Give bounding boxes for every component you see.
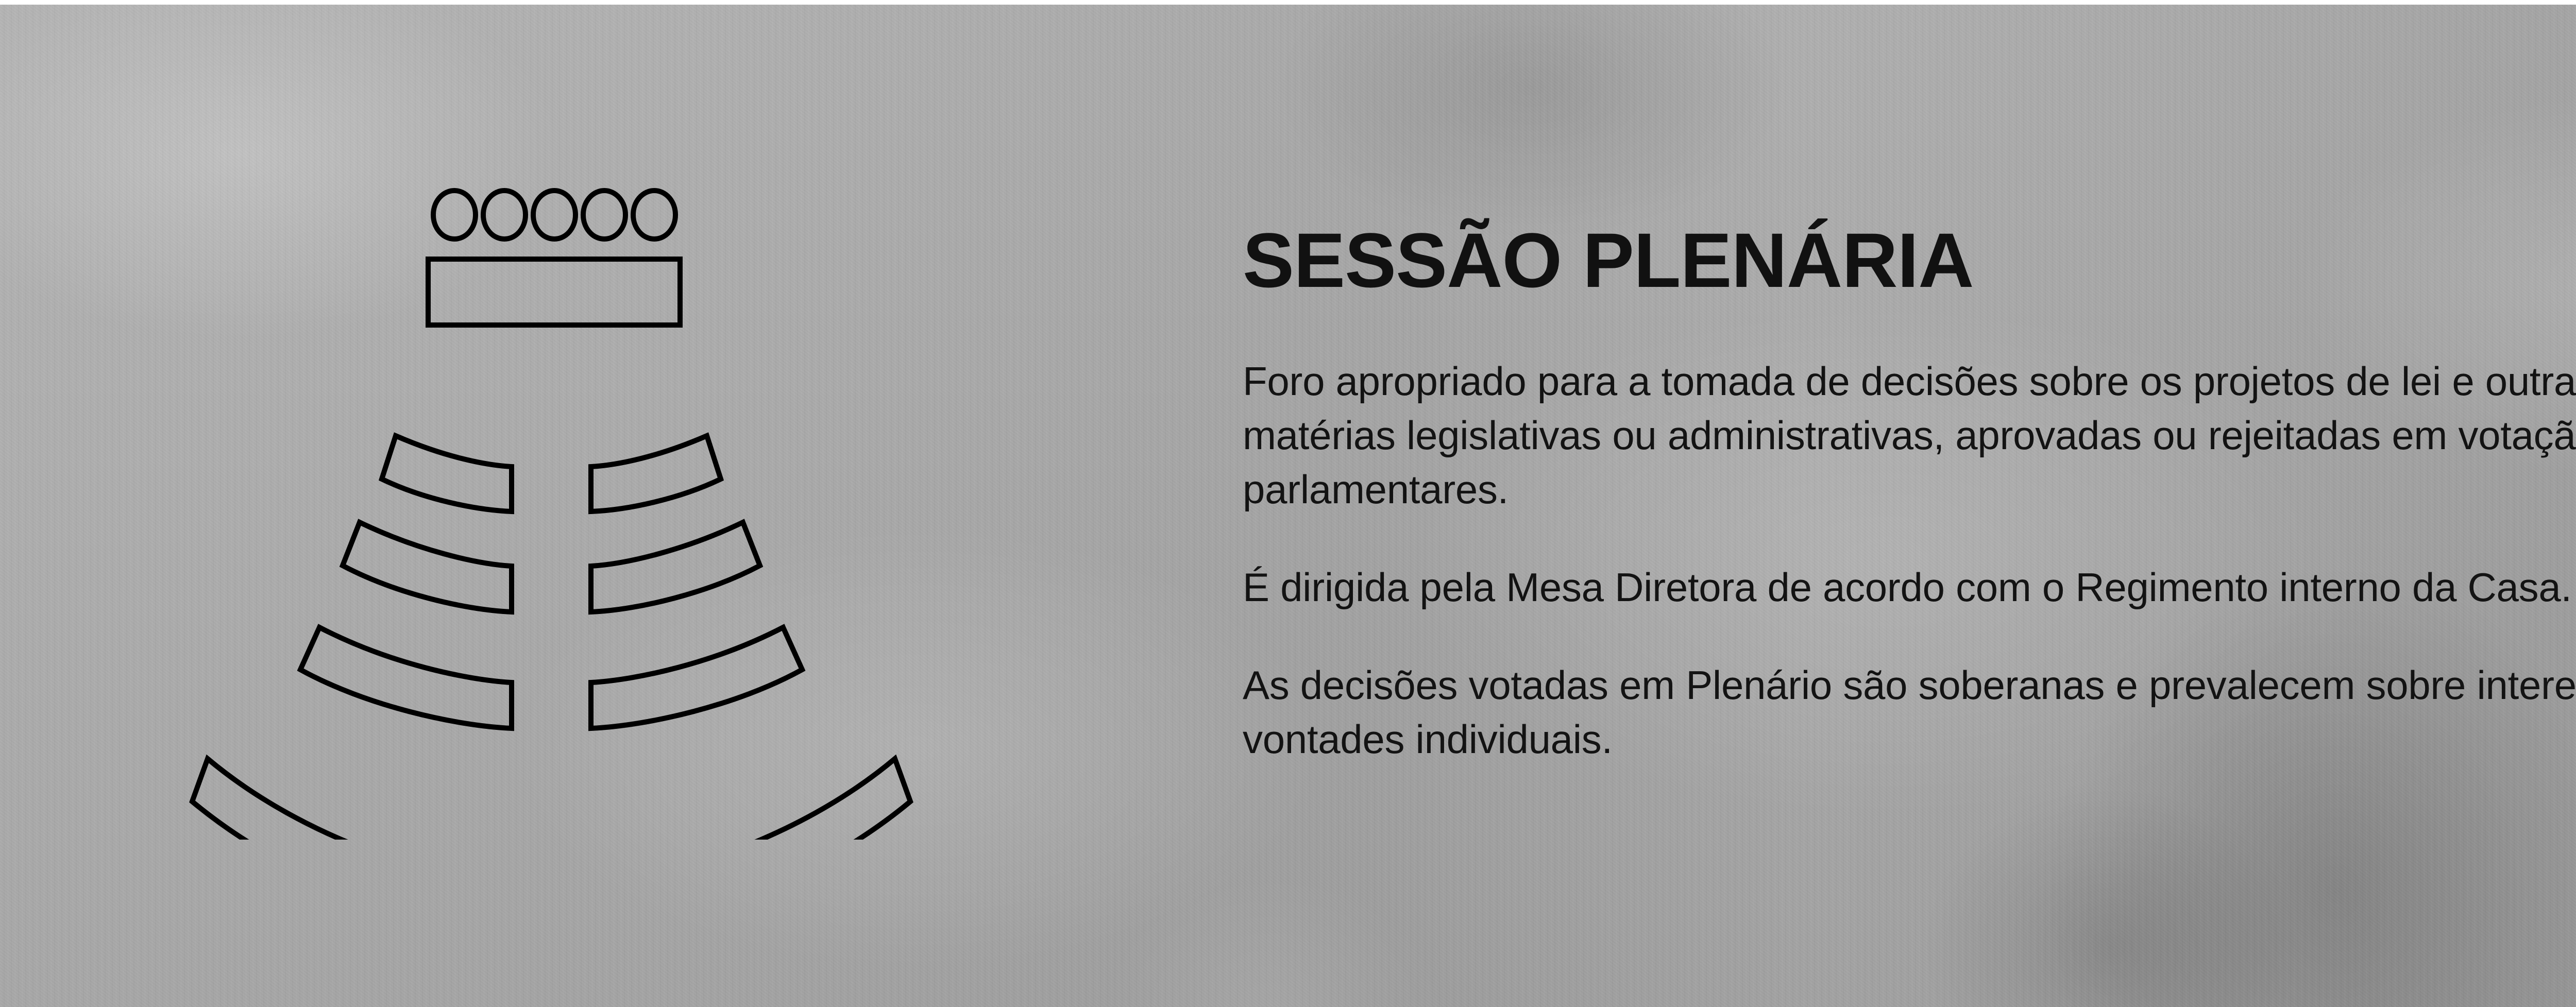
bench-row1-right-curve: [591, 436, 721, 511]
bench-row2-left-curve: [343, 522, 512, 612]
plenary-chamber-icon: [155, 155, 948, 840]
head-table-shape: [428, 259, 680, 325]
bench-row3-left-curve: [300, 627, 512, 728]
bench-row3-right-curve: [591, 627, 802, 728]
paragraph: É dirigida pela Mesa Diretora de acordo …: [1243, 560, 2576, 615]
body-copy: Foro apropriado para a tomada de decisõe…: [1243, 354, 2576, 766]
text-column: SESSÃO PLENÁRIA Foro apropriado para a t…: [1243, 221, 2576, 766]
bench-row1-left-curve: [382, 436, 512, 511]
officer-head-icon: [633, 191, 675, 239]
page-title: SESSÃO PLENÁRIA: [1243, 221, 2576, 299]
bench-row2-right-curve: [591, 522, 760, 612]
officer-head-icon: [583, 191, 625, 239]
bench-row4-full-curve: [192, 759, 910, 840]
officer-head-icon: [433, 191, 476, 239]
presiding-officers-row: [433, 191, 675, 239]
page-root: SESSÃO PLENÁRIA Foro apropriado para a t…: [0, 0, 2576, 1007]
officer-head-icon: [533, 191, 575, 239]
officer-head-icon: [483, 191, 526, 239]
paragraph: As decisões votadas em Plenário são sobe…: [1243, 658, 2576, 766]
paragraph: Foro apropriado para a tomada de decisõe…: [1243, 354, 2576, 517]
